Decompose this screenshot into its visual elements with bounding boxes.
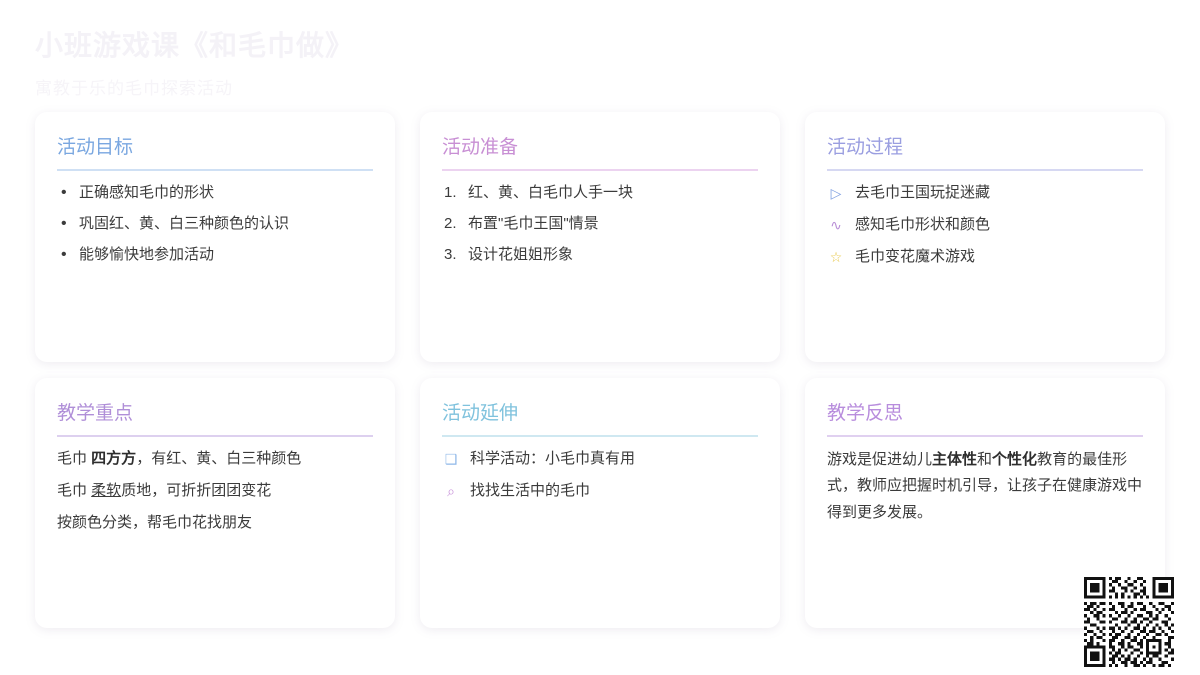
focus-line-1-pre: 毛巾 [57, 450, 91, 467]
list-item: ☆ 毛巾变花魔术游戏 [827, 245, 1143, 270]
page-header: 小班游戏课《和毛巾做》 寓教于乐的毛巾探索活动 [35, 28, 735, 99]
card-title: 活动准备 [442, 132, 758, 171]
list-item-label: 科学活动：小毛巾真有用 [470, 450, 635, 467]
list-item-label: 感知毛巾形状和颜色 [855, 216, 990, 233]
list-item: 红、黄、白毛巾人手一块 [442, 181, 758, 206]
focus-line-2: 毛巾 柔软质地，可折折团团变花 [57, 479, 373, 503]
extension-list: ❑ 科学活动：小毛巾真有用 ⌕ 找找生活中的毛巾 [442, 447, 758, 504]
list-item: 布置"毛巾王国"情景 [442, 212, 758, 237]
card-body: ▷ 去毛巾王国玩捉迷藏 ∿ 感知毛巾形状和颜色 ☆ 毛巾变花魔术游戏 [827, 181, 1143, 269]
card-grid: 活动目标 正确感知毛巾的形状 巩固红、黄、白三种颜色的认识 能够愉快地参加活动 … [35, 112, 1165, 628]
list-item: 巩固红、黄、白三种颜色的认识 [57, 212, 373, 237]
page-title: 小班游戏课《和毛巾做》 [35, 28, 735, 64]
list-item-label: 毛巾变花魔术游戏 [855, 248, 975, 265]
list-item: ⌕ 找找生活中的毛巾 [442, 479, 758, 504]
list-item-label: 找找生活中的毛巾 [470, 482, 590, 499]
qr-code-icon [1084, 577, 1174, 667]
list-item: ∿ 感知毛巾形状和颜色 [827, 213, 1143, 238]
card-activity-preparation: 活动准备 红、黄、白毛巾人手一块 布置"毛巾王国"情景 设计花姐姐形象 [420, 112, 780, 362]
page-subtitle: 寓教于乐的毛巾探索活动 [35, 74, 735, 99]
focus-line-2-post: 质地，可折折团团变花 [121, 482, 271, 499]
list-item: ▷ 去毛巾王国玩捉迷藏 [827, 181, 1143, 206]
play-icon: ▷ [827, 181, 845, 205]
process-list: ▷ 去毛巾王国玩捉迷藏 ∿ 感知毛巾形状和颜色 ☆ 毛巾变花魔术游戏 [827, 181, 1143, 269]
card-teaching-focus: 教学重点 毛巾 四方方，有红、黄、白三种颜色 毛巾 柔软质地，可折折团团变花 按… [35, 378, 395, 628]
book-icon: ❑ [442, 447, 460, 471]
card-body: 游戏是促进幼儿主体性和个性化教育的最佳形式，教师应把握时机引导，让孩子在健康游戏… [827, 447, 1143, 526]
focus-line-3-pre: 按颜色分类，帮毛巾花找朋友 [57, 514, 252, 531]
focus-line-2-pre: 毛巾 [57, 482, 91, 499]
preparation-list: 红、黄、白毛巾人手一块 布置"毛巾王国"情景 设计花姐姐形象 [442, 181, 758, 267]
list-item: ❑ 科学活动：小毛巾真有用 [442, 447, 758, 472]
reflection-part-2: 和 [977, 451, 992, 468]
reflection-part-1: 游戏是促进幼儿 [827, 451, 932, 468]
list-item: 设计花姐姐形象 [442, 243, 758, 268]
card-title: 活动过程 [827, 132, 1143, 171]
list-item: 正确感知毛巾的形状 [57, 181, 373, 206]
goal-list: 正确感知毛巾的形状 巩固红、黄、白三种颜色的认识 能够愉快地参加活动 [57, 181, 373, 267]
list-item-label: 去毛巾王国玩捉迷藏 [855, 184, 990, 201]
card-activity-goals: 活动目标 正确感知毛巾的形状 巩固红、黄、白三种颜色的认识 能够愉快地参加活动 [35, 112, 395, 362]
card-title: 教学反思 [827, 398, 1143, 437]
card-activity-extension: 活动延伸 ❑ 科学活动：小毛巾真有用 ⌕ 找找生活中的毛巾 [420, 378, 780, 628]
focus-line-1-strong: 四方方 [91, 450, 136, 467]
reflection-bold-1: 主体性 [932, 451, 977, 468]
pulse-icon: ∿ [827, 213, 845, 237]
list-item: 能够愉快地参加活动 [57, 243, 373, 268]
focus-line-1-post: ，有红、黄、白三种颜色 [136, 450, 301, 467]
focus-line-3: 按颜色分类，帮毛巾花找朋友 [57, 511, 373, 535]
focus-line-1: 毛巾 四方方，有红、黄、白三种颜色 [57, 447, 373, 471]
card-body: 正确感知毛巾的形状 巩固红、黄、白三种颜色的认识 能够愉快地参加活动 [57, 181, 373, 267]
card-body: 红、黄、白毛巾人手一块 布置"毛巾王国"情景 设计花姐姐形象 [442, 181, 758, 267]
card-body: ❑ 科学活动：小毛巾真有用 ⌕ 找找生活中的毛巾 [442, 447, 758, 504]
card-title: 活动延伸 [442, 398, 758, 437]
focus-line-2-underline: 柔软 [91, 482, 121, 499]
search-icon: ⌕ [442, 479, 460, 503]
card-body: 毛巾 四方方，有红、黄、白三种颜色 毛巾 柔软质地，可折折团团变花 按颜色分类，… [57, 447, 373, 535]
star-icon: ☆ [827, 245, 845, 269]
reflection-bold-2: 个性化 [992, 451, 1037, 468]
reflection-paragraph: 游戏是促进幼儿主体性和个性化教育的最佳形式，教师应把握时机引导，让孩子在健康游戏… [827, 447, 1143, 526]
card-title: 教学重点 [57, 398, 373, 437]
card-activity-process: 活动过程 ▷ 去毛巾王国玩捉迷藏 ∿ 感知毛巾形状和颜色 ☆ 毛巾变花魔术游戏 [805, 112, 1165, 362]
card-title: 活动目标 [57, 132, 373, 171]
qr-code[interactable] [1084, 577, 1174, 667]
